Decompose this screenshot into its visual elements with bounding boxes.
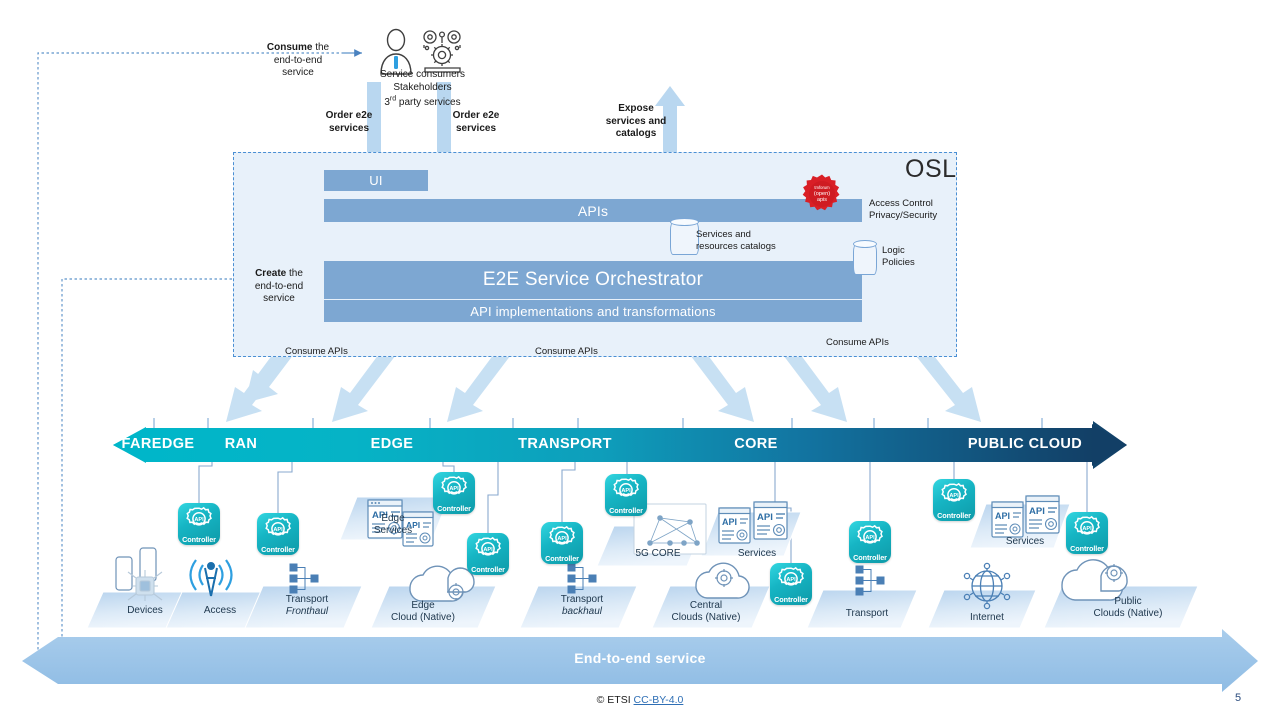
network-nodes-icon-2 [568, 564, 596, 593]
devices-icon [116, 548, 156, 590]
domain-label-ran[interactable]: RAN [206, 436, 276, 452]
cloud-gear-icon-central [696, 563, 749, 598]
slab-label-access: Access [185, 605, 255, 617]
controller-label: Controller [1070, 545, 1104, 553]
access-control-note: Access Control Privacy/Security [869, 198, 959, 221]
svg-text:API: API [557, 536, 567, 542]
controller-chip-6[interactable]: APIController [605, 474, 647, 516]
page-number: 5 [1235, 692, 1241, 704]
slab-label-core-transport: Transport [830, 608, 904, 620]
svg-text:API: API [621, 488, 631, 494]
svg-text:tmforum: tmforum [814, 185, 830, 190]
svg-text:API: API [1082, 526, 1092, 532]
logic-policies-cylinder-icon [853, 244, 877, 275]
api-gear-icon: API [857, 524, 883, 555]
domain-tick-marks [154, 418, 1042, 428]
slab-label-transport-backhaul: Transport backhaul [545, 594, 619, 618]
svg-text:API: API [865, 535, 875, 541]
svg-text:API: API [483, 547, 493, 553]
controller-chip-3[interactable]: APIController [433, 472, 475, 514]
domain-label-core[interactable]: CORE [716, 436, 796, 452]
end-to-end-service-label: End-to-end service [0, 650, 1280, 666]
cloud-gear-icon-public [1062, 560, 1127, 600]
slab-label-edge-services: Edge Services [362, 513, 424, 537]
controller-chip-8[interactable]: APIController [849, 521, 891, 563]
api-gear-icon: API [613, 477, 639, 508]
create-e2e-service-label: Create the end-to-end service [238, 268, 320, 306]
controller-label: Controller [853, 554, 887, 562]
domain-label-transport[interactable]: TRANSPORT [505, 436, 625, 452]
svg-text:API: API [194, 517, 204, 523]
controller-label: Controller [471, 566, 505, 574]
cloud-gear-icon-edge [410, 566, 474, 601]
globe-icon [964, 563, 1009, 608]
order-e2e-services-label-2: Order e2e services [443, 110, 509, 135]
order-e2e-services-label-1: Order e2e services [316, 110, 382, 135]
svg-text:API: API [722, 517, 737, 527]
controller-label: Controller [774, 596, 808, 604]
controller-chip-2[interactable]: APIController [257, 513, 299, 555]
controller-chip-10[interactable]: APIController [1066, 512, 1108, 554]
controller-chip-7[interactable]: APIController [770, 563, 812, 605]
svg-text:apis: apis [817, 197, 827, 203]
controller-chip-5[interactable]: APIController [541, 522, 583, 564]
network-nodes-icon-3 [856, 566, 884, 595]
expose-services-catalogs-label: Expose services and catalogs [593, 103, 679, 141]
api-implementations-block[interactable]: API implementations and transformations [324, 300, 862, 322]
svg-text:API: API [1029, 506, 1045, 517]
svg-text:API: API [449, 486, 459, 492]
svg-text:API: API [949, 493, 959, 499]
api-gear-icon: API [1074, 515, 1100, 546]
api-gear-icon: API [941, 482, 967, 513]
logic-policies-note: Logic Policies [882, 245, 942, 268]
footer-license-link[interactable]: CC-BY-4.0 [634, 694, 684, 706]
api-docs-icon-core: API API [719, 502, 787, 543]
antenna-tower-icon [205, 563, 217, 596]
domain-label-edge[interactable]: EDGE [352, 436, 432, 452]
controller-label: Controller [437, 505, 471, 513]
controller-label: Controller [609, 507, 643, 515]
api-gear-icon: API [475, 536, 501, 567]
slab-label-transport-fronthaul: Transport Fronthaul [270, 594, 344, 618]
service-consumers-label: Service consumers Stakeholders 3rd party… [355, 69, 490, 110]
domain-label-public-cloud[interactable]: PUBLIC CLOUD [955, 436, 1095, 452]
antenna-icon [191, 560, 232, 590]
services-catalog-note: Services and resources catalogs [696, 229, 792, 252]
api-gear-icon: API [549, 525, 575, 556]
controller-chip-1[interactable]: APIController [178, 503, 220, 545]
slab-label-public-clouds: Public Clouds (Native) [1089, 596, 1167, 620]
svg-text:API: API [995, 511, 1010, 521]
api-docs-icon-public: API API [992, 496, 1059, 537]
consume-apis-label-2: Consume APIs [535, 346, 598, 357]
domain-label-faredge[interactable]: FAREDGE [118, 436, 198, 452]
network-nodes-icon-1 [290, 564, 318, 593]
controller-label: Controller [182, 536, 216, 544]
svg-text:API: API [273, 527, 283, 533]
controller-label: Controller [937, 512, 971, 520]
footer: © ETSI CC-BY-4.0 [0, 694, 1280, 706]
controller-chip-9[interactable]: APIController [933, 479, 975, 521]
tmforum-open-apis-seal-icon: tmforum (open) apis [801, 173, 843, 215]
chip-icon [128, 570, 162, 601]
controller-label: Controller [545, 555, 579, 563]
controller-chip-4[interactable]: APIController [467, 533, 509, 575]
slab-label-central-clouds: Central Clouds (Native) [669, 600, 743, 624]
api-gear-icon: API [778, 566, 804, 597]
consume-apis-label-3: Consume APIs [826, 337, 889, 348]
slab-label-core-services: Services [722, 548, 792, 560]
dotted-flow-paths [38, 53, 362, 668]
slab-label-public-cloud-services: Services [990, 536, 1060, 548]
services-catalog-cylinder-icon [670, 222, 699, 255]
e2e-service-orchestrator-block[interactable]: E2E Service Orchestrator [324, 261, 862, 299]
api-gear-icon: API [265, 516, 291, 547]
osl-title: OSL [905, 155, 957, 184]
slab-label-5g-core: 5G CORE [622, 548, 694, 560]
footer-copyright: © ETSI [597, 694, 631, 706]
consume-apis-label-1: Consume APIs [285, 346, 348, 357]
ui-block[interactable]: UI [324, 170, 428, 191]
slab-label-edge-cloud: Edge Cloud (Native) [388, 600, 458, 624]
api-gear-icon: API [186, 506, 212, 537]
stakeholders-gear-icon [424, 31, 460, 72]
controller-label: Controller [261, 546, 295, 554]
consume-e2e-service-label: Consume the end-to-end service [252, 42, 344, 80]
svg-text:API: API [757, 512, 773, 523]
slab-label-internet: Internet [952, 612, 1022, 624]
slab-label-devices: Devices [110, 605, 180, 617]
api-gear-icon: API [441, 475, 467, 506]
svg-text:API: API [786, 577, 796, 583]
apis-block[interactable]: APIs [324, 199, 862, 222]
